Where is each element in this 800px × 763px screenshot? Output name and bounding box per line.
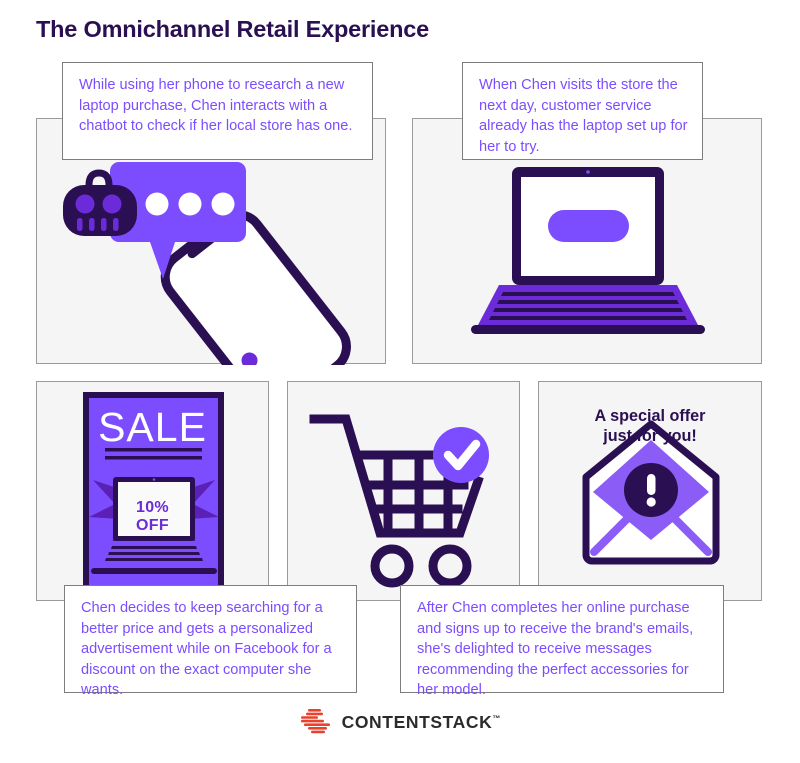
logo-wordmark: CONTENTSTACK (342, 712, 493, 732)
caption-box-step-1: While using her phone to research a new … (62, 62, 373, 160)
shopping-cart-check-illustration (288, 382, 521, 602)
page-title: The Omnichannel Retail Experience (36, 16, 429, 43)
sale-advertisement-illustration (37, 382, 270, 602)
trademark-symbol: ™ (492, 714, 500, 723)
illustration-panel-special-offer: A special offer just for you! (538, 381, 762, 601)
caption-box-step-2: When Chen visits the store the next day,… (462, 62, 703, 160)
contentstack-logo-text: CONTENTSTACK™ (342, 712, 501, 733)
footer-logo: CONTENTSTACK™ (0, 708, 800, 736)
contentstack-logo-icon (300, 708, 332, 736)
illustration-panel-cart (287, 381, 520, 601)
infographic-canvas: The Omnichannel Retail Experience (0, 0, 800, 763)
caption-box-step-4: After Chen completes her online purchase… (400, 585, 724, 693)
open-envelope-alert-illustration (539, 382, 763, 602)
illustration-panel-sale-ad: SALE 10% OFF (36, 381, 269, 601)
caption-box-step-3: Chen decides to keep searching for a bet… (64, 585, 357, 693)
